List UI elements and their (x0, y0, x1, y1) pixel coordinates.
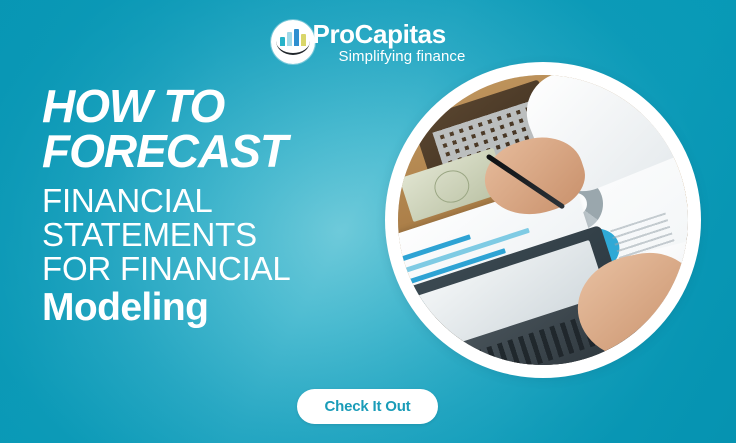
headline-sub-line-3: FOR FINANCIAL (42, 252, 402, 286)
headline-line-2: FORECAST (42, 129, 402, 174)
headline-subtitle: FINANCIAL STATEMENTS FOR FINANCIAL (42, 184, 402, 286)
promo-banner: ProCapitas Simplifying finance HOW TO FO… (0, 0, 736, 443)
headline-sub-line-1: FINANCIAL (42, 184, 402, 218)
brand-logo[interactable]: ProCapitas Simplifying finance (0, 20, 736, 64)
check-it-out-button[interactable]: Check It Out (297, 389, 438, 424)
hero-photo-frame (385, 62, 701, 378)
logo-arc (276, 41, 310, 55)
photo-scene (398, 75, 688, 365)
headline-sub-line-2: STATEMENTS (42, 218, 402, 252)
brand-name: ProCapitas (313, 21, 466, 47)
bar-chart-circle-icon (271, 20, 315, 64)
brand-tagline: Simplifying finance (339, 49, 466, 64)
page-title: HOW TO FORECAST (42, 84, 402, 174)
headline-emphasis: Modeling (42, 288, 402, 327)
hero-photo (398, 75, 688, 365)
logo-inner: ProCapitas Simplifying finance (271, 20, 466, 64)
logo-text: ProCapitas Simplifying finance (313, 21, 466, 64)
headline-block: HOW TO FORECAST FINANCIAL STATEMENTS FOR… (42, 84, 402, 327)
